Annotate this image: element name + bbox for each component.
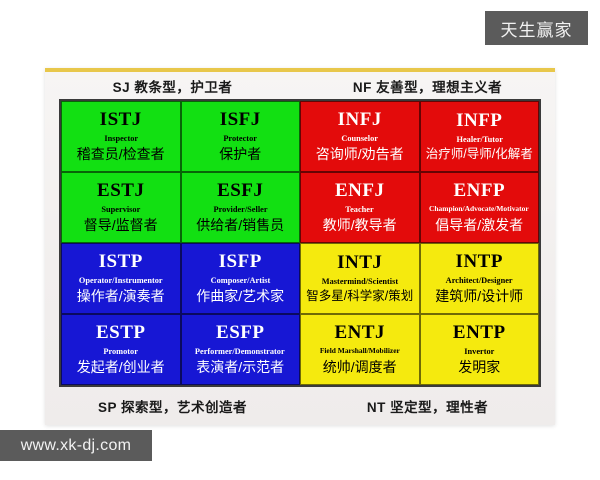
mbti-type-english-name: Counselor <box>341 133 378 143</box>
mbti-type-chinese-name: 督导/监督者 <box>84 217 158 234</box>
mbti-type-code: INFJ <box>338 110 382 130</box>
mbti-cell-infj[interactable]: INFJCounselor咨询师/劝告者 <box>300 101 420 172</box>
mbti-type-english-name: Healer/Tutor <box>456 134 502 144</box>
mbti-cell-enfp[interactable]: ENFPChampion/Advocate/Motivator倡导者/激发者 <box>420 172 540 243</box>
mbti-type-chinese-name: 倡导者/激发者 <box>435 217 523 234</box>
mbti-type-english-name: Mastermind/Scientist <box>322 276 398 286</box>
mbti-type-english-name: Architect/Designer <box>446 275 513 285</box>
mbti-type-english-name: Composer/Artist <box>210 275 270 285</box>
mbti-type-english-name: Field Marshall/Mobilizer <box>320 346 400 355</box>
mbti-type-chinese-name: 保护者 <box>219 146 261 163</box>
mbti-cell-enfj[interactable]: ENFJTeacher教师/教导者 <box>300 172 420 243</box>
mbti-type-code: ESFP <box>216 323 264 343</box>
mbti-cell-estj[interactable]: ESTJSupervisor督导/监督者 <box>61 172 181 243</box>
mbti-cell-istj[interactable]: ISTJInspector稽查员/检查者 <box>61 101 181 172</box>
mbti-type-chinese-name: 操作者/演奏者 <box>77 288 165 305</box>
watermark-badge-bottom-left: www.xk-dj.com <box>0 430 152 461</box>
mbti-type-code: ISFP <box>219 252 262 272</box>
mbti-type-chinese-name: 治疗师/导师/化解者 <box>426 147 533 162</box>
mbti-type-english-name: Champion/Advocate/Motivator <box>429 204 529 213</box>
mbti-chart-card: SJ 教条型，护卫者 NF 友善型，理想主义者 ISTJInspector稽查员… <box>45 68 555 425</box>
mbti-type-english-name: Teacher <box>346 204 374 214</box>
mbti-type-code: INTP <box>456 252 503 272</box>
quadrant-footer-sp: SP 探索型，艺术创造者 <box>45 396 300 416</box>
mbti-chart-body: SJ 教条型，护卫者 NF 友善型，理想主义者 ISTJInspector稽查员… <box>45 72 555 425</box>
mbti-cell-isfj[interactable]: ISFJProtector保护者 <box>181 101 301 172</box>
mbti-cell-infp[interactable]: INFPHealer/Tutor治疗师/导师/化解者 <box>420 101 540 172</box>
mbti-type-chinese-name: 供给者/销售员 <box>196 217 284 234</box>
mbti-cell-esfp[interactable]: ESFPPerformer/Demonstrator表演者/示范者 <box>181 314 301 385</box>
quadrant-header-row: SJ 教条型，护卫者 NF 友善型，理想主义者 <box>45 72 555 99</box>
mbti-type-english-name: Inspector <box>104 133 138 143</box>
watermark-badge-top-right: 天生赢家 <box>485 11 588 45</box>
mbti-type-chinese-name: 稽查员/检查者 <box>77 146 165 163</box>
mbti-cell-isfp[interactable]: ISFPComposer/Artist作曲家/艺术家 <box>181 243 301 314</box>
mbti-type-chinese-name: 建筑师/设计师 <box>435 288 523 305</box>
mbti-type-code: ISTJ <box>100 110 142 130</box>
mbti-type-code: ENTP <box>453 323 506 343</box>
mbti-type-code: INTJ <box>337 253 382 273</box>
mbti-type-code: INFP <box>456 111 502 131</box>
mbti-type-chinese-name: 发起者/创业者 <box>77 359 165 376</box>
mbti-type-english-name: Protector <box>223 133 257 143</box>
mbti-cell-esfj[interactable]: ESFJProvider/Seller供给者/销售员 <box>181 172 301 243</box>
quadrant-header-sj: SJ 教条型，护卫者 <box>45 76 300 96</box>
mbti-type-english-name: Provider/Seller <box>213 204 267 214</box>
mbti-type-chinese-name: 教师/教导者 <box>323 217 397 234</box>
quadrant-footer-row: SP 探索型，艺术创造者 NT 坚定型，理性者 <box>45 387 555 425</box>
mbti-type-code: ESFJ <box>217 181 263 201</box>
mbti-type-chinese-name: 统帅/调度者 <box>323 359 397 376</box>
mbti-type-grid: ISTJInspector稽查员/检查者ISFJProtector保护者INFJ… <box>59 99 541 387</box>
mbti-type-english-name: Promotor <box>103 346 138 356</box>
mbti-type-chinese-name: 表演者/示范者 <box>196 359 284 376</box>
mbti-type-chinese-name: 咨询师/劝告者 <box>316 146 404 163</box>
mbti-cell-istp[interactable]: ISTPOperator/Instrumentor操作者/演奏者 <box>61 243 181 314</box>
mbti-type-chinese-name: 作曲家/艺术家 <box>196 288 284 305</box>
quadrant-header-nf: NF 友善型，理想主义者 <box>300 76 555 96</box>
mbti-type-code: ISFJ <box>220 110 261 130</box>
mbti-type-code: ENFP <box>453 181 505 201</box>
mbti-cell-intp[interactable]: INTPArchitect/Designer建筑师/设计师 <box>420 243 540 314</box>
mbti-type-english-name: Invertor <box>464 346 494 356</box>
mbti-type-english-name: Operator/Instrumentor <box>79 275 163 285</box>
quadrant-footer-nt: NT 坚定型，理性者 <box>300 396 555 416</box>
mbti-cell-intj[interactable]: INTJMastermind/Scientist智多星/科学家/策划 <box>300 243 420 314</box>
mbti-cell-estp[interactable]: ESTPPromotor发起者/创业者 <box>61 314 181 385</box>
mbti-type-chinese-name: 智多星/科学家/策划 <box>306 289 413 304</box>
mbti-type-chinese-name: 发明家 <box>458 359 500 376</box>
mbti-type-english-name: Performer/Demonstrator <box>195 346 285 356</box>
mbti-type-code: ISTP <box>99 252 143 272</box>
mbti-type-code: ESTJ <box>97 181 144 201</box>
mbti-type-code: ESTP <box>96 323 146 343</box>
mbti-cell-entp[interactable]: ENTPInvertor发明家 <box>420 314 540 385</box>
mbti-type-english-name: Supervisor <box>101 204 140 214</box>
mbti-type-code: ENTJ <box>334 323 385 343</box>
mbti-cell-entj[interactable]: ENTJField Marshall/Mobilizer统帅/调度者 <box>300 314 420 385</box>
mbti-type-code: ENFJ <box>335 181 385 201</box>
